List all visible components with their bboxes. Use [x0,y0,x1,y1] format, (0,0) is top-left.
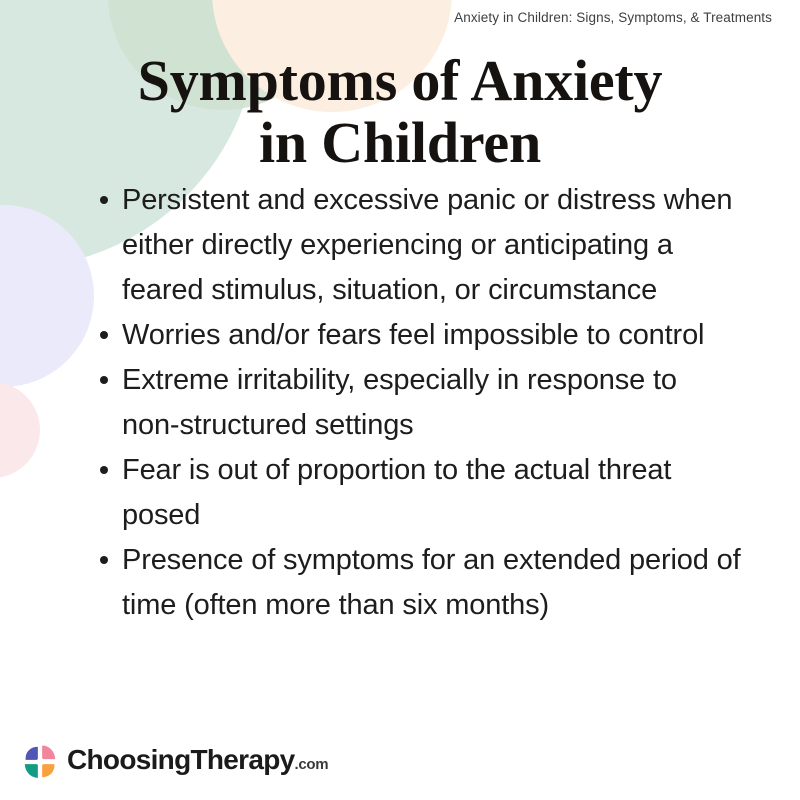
list-item: Fear is out of proportion to the actual … [92,448,742,538]
brand-tld-text: .com [295,756,329,773]
choosing-therapy-pinwheel-icon [22,744,58,780]
list-item: Presence of symptoms for an extended per… [92,538,742,628]
brand-wordmark: ChoosingTherapy.com [67,745,328,780]
list-item-text: Persistent and excessive panic or distre… [122,184,732,306]
list-item: Extreme irritability, especially in resp… [92,358,742,448]
symptoms-list: Persistent and excessive panic or distre… [92,178,742,628]
page-title-line-2: in Children [0,112,800,174]
pink-circle-icon [0,382,40,478]
bullet-dot-icon [100,556,108,564]
bullet-dot-icon [100,331,108,339]
list-item-text: Worries and/or fears feel impossible to … [122,319,704,351]
brand-logo[interactable]: ChoosingTherapy.com [22,744,328,780]
bullet-dot-icon [100,466,108,474]
list-item: Persistent and excessive panic or distre… [92,178,742,313]
list-item-text: Extreme irritability, especially in resp… [122,364,677,441]
source-article-line: Anxiety in Children: Signs, Symptoms, & … [454,10,772,25]
page-title: Symptoms of Anxiety in Children [0,50,800,174]
infographic-canvas: Anxiety in Children: Signs, Symptoms, & … [0,0,800,800]
page-title-line-1: Symptoms of Anxiety [0,50,800,112]
lavender-circle-icon [0,205,94,387]
bullet-dot-icon [100,376,108,384]
list-item-text: Presence of symptoms for an extended per… [122,544,741,621]
bullet-dot-icon [100,196,108,204]
list-item: Worries and/or fears feel impossible to … [92,313,742,358]
brand-name-text: ChoosingTherapy [67,744,295,775]
list-item-text: Fear is out of proportion to the actual … [122,454,671,531]
